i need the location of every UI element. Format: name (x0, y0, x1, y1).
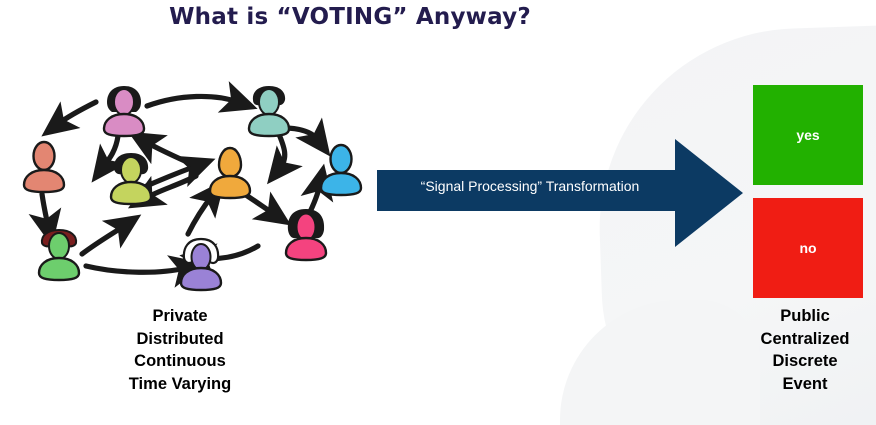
page-title: What is “VOTING” Anyway? (0, 4, 700, 30)
person-teal-icon (243, 82, 295, 140)
left-caption: Private Distributed Continuous Time Vary… (60, 305, 300, 395)
person-orange-icon (204, 144, 256, 202)
left-caption-line-2: Distributed (60, 328, 300, 351)
person-magenta-icon (280, 206, 332, 264)
no-box-label: no (799, 240, 816, 256)
person-pink-icon (98, 82, 150, 140)
person-purple-icon (175, 236, 227, 294)
left-caption-line-4: Time Varying (60, 373, 300, 396)
left-caption-line-3: Continuous (60, 350, 300, 373)
person-yellowgreen-icon (105, 150, 157, 208)
slide-canvas: What is “VOTING” Anyway? (0, 0, 876, 425)
background-blob-shape-secondary (560, 300, 760, 425)
transformation-arrow-label: “Signal Processing” Transformation (385, 178, 675, 194)
people-network-diagram (0, 66, 370, 301)
right-caption-line-2: Centralized (735, 328, 875, 351)
no-box[interactable]: no (753, 198, 863, 298)
person-blue-icon (315, 141, 367, 199)
right-caption-line-3: Discrete (735, 350, 875, 373)
yes-box[interactable]: yes (753, 85, 863, 185)
person-salmon-icon (18, 138, 70, 196)
right-caption-line-4: Event (735, 373, 875, 396)
yes-box-label: yes (796, 127, 819, 143)
right-caption: Public Centralized Discrete Event (735, 305, 875, 395)
person-green-icon (33, 226, 85, 284)
left-caption-line-1: Private (60, 305, 300, 328)
right-caption-line-1: Public (735, 305, 875, 328)
